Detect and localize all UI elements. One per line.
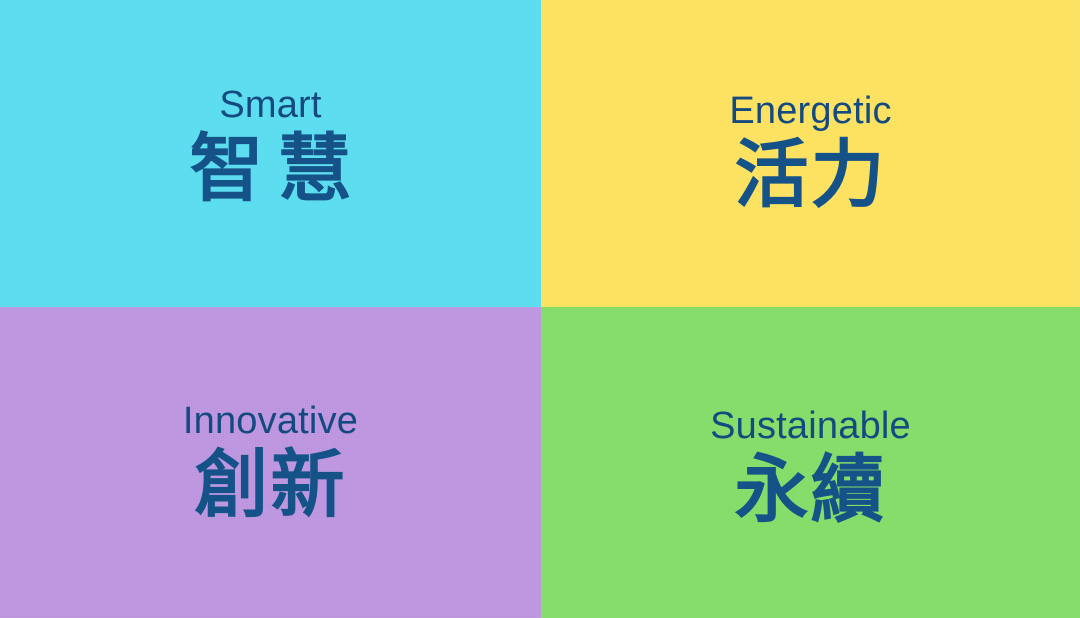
panel-sustainable: Sustainable 永續: [541, 307, 1080, 618]
panel-innovative-label-en: Innovative: [0, 402, 541, 442]
panel-sustainable-text-block: Sustainable 永續: [541, 407, 1080, 529]
panel-sustainable-label-en: Sustainable: [541, 407, 1080, 447]
panel-energetic: Energetic 活力: [541, 0, 1080, 307]
brand-values-grid: Smart 智慧 Energetic 活力 Innovative 創新 Sust…: [0, 0, 1080, 618]
panel-smart-label-zh: 智慧: [0, 130, 541, 208]
panel-innovative: Innovative 創新: [0, 307, 541, 618]
panel-energetic-label-zh: 活力: [541, 136, 1080, 214]
panel-innovative-text-block: Innovative 創新: [0, 402, 541, 524]
panel-innovative-label-zh: 創新: [0, 446, 541, 524]
panel-smart: Smart 智慧: [0, 0, 541, 307]
panel-smart-label-en: Smart: [0, 86, 541, 126]
panel-energetic-label-en: Energetic: [541, 92, 1080, 132]
panel-smart-text-block: Smart 智慧: [0, 86, 541, 208]
panel-energetic-text-block: Energetic 活力: [541, 92, 1080, 214]
panel-sustainable-label-zh: 永續: [541, 451, 1080, 529]
